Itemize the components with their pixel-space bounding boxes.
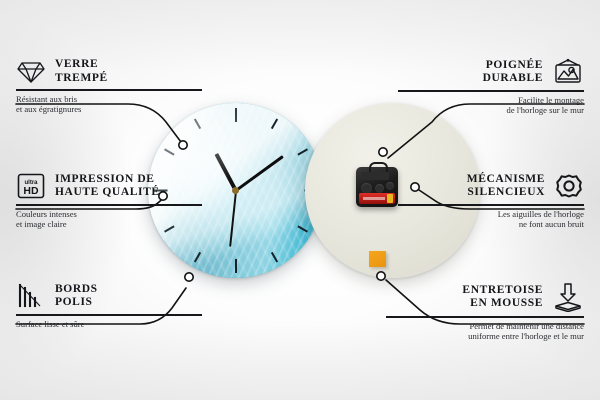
hour-hand: [214, 152, 237, 191]
feature-title-line2: POLIS: [55, 296, 98, 310]
feature-desc-line2: et image claire: [16, 219, 202, 229]
feature-header: BORDS POLIS: [16, 282, 202, 310]
feature-description: Résistant aux bris et aux égratignures: [16, 94, 202, 115]
mechanism-dial-right: [386, 182, 394, 190]
feature-description: Les aiguilles de l'horloge ne font aucun…: [398, 209, 584, 230]
ultra-hd-icon-bottom-text: HD: [23, 185, 39, 197]
infographic-canvas: VERRE TREMPÉ Résistant aux bris et aux é…: [0, 0, 600, 400]
feature-title-line1: ENTRETOISE: [462, 284, 543, 298]
feature-rule: [386, 316, 584, 318]
feature-title-line2: SILENCIEUX: [467, 186, 545, 200]
feature-rule: [16, 314, 202, 316]
feature-poignee-durable: POIGNÉE DURABLE Facilite le montage de l…: [398, 58, 584, 115]
feature-rule: [398, 204, 584, 206]
hands-center-cap: [232, 187, 239, 194]
polished-edge-icon: [16, 282, 46, 310]
feature-desc-line1: Les aiguilles de l'horloge: [398, 209, 584, 219]
feature-header: ENTRETOISE EN MOUSSE: [386, 282, 584, 312]
feature-title-line2: DURABLE: [483, 72, 543, 86]
feature-desc-line2: de l'horloge sur le mur: [398, 105, 584, 115]
feature-description: Permet de maintenir une distance uniform…: [386, 321, 584, 342]
feature-header: ultra HD IMPRESSION DE HAUTE QUALITÉ: [16, 172, 202, 200]
feature-title: BORDS POLIS: [55, 283, 98, 310]
feature-verre-trempe: VERRE TREMPÉ Résistant aux bris et aux é…: [16, 58, 202, 114]
feature-desc-line2: uniforme entre l'horloge et le mur: [386, 331, 584, 341]
feature-title-line2: EN MOUSSE: [462, 297, 543, 311]
feature-title-line2: HAUTE QUALITÉ: [55, 186, 160, 200]
feature-desc-line1: Permet de maintenir une distance: [386, 321, 584, 331]
foam-spacer: [369, 251, 386, 267]
feature-description: Couleurs intenses et image claire: [16, 209, 202, 230]
quartz-mechanism: [356, 167, 398, 207]
foam-spacer-icon: [552, 282, 584, 312]
feature-rule: [16, 89, 202, 91]
diamond-icon: [16, 59, 46, 85]
feature-rule: [398, 90, 584, 92]
feature-title-line1: MÉCANISME: [467, 173, 545, 187]
feature-title-line1: POIGNÉE: [483, 59, 543, 73]
feature-title: IMPRESSION DE HAUTE QUALITÉ: [55, 173, 160, 200]
battery-label: [363, 197, 385, 200]
feature-title: POIGNÉE DURABLE: [483, 59, 543, 86]
feature-desc-line1: Surface lisse et sûre: [16, 319, 202, 329]
feature-desc-line2: ne font aucun bruit: [398, 219, 584, 229]
feature-desc-line1: Couleurs intenses: [16, 209, 202, 219]
feature-title-line1: VERRE: [55, 58, 108, 72]
feature-description: Facilite le montage de l'horloge sur le …: [398, 95, 584, 116]
feature-desc-line2: et aux égratignures: [16, 104, 202, 114]
mechanism-dial-mid: [375, 184, 384, 193]
feature-title-line2: TREMPÉ: [55, 72, 108, 86]
feature-entretoise-en-mousse: ENTRETOISE EN MOUSSE Permet de maintenir…: [386, 282, 584, 341]
feature-desc-line1: Facilite le montage: [398, 95, 584, 105]
feature-title-line1: BORDS: [55, 283, 98, 297]
hanging-picture-icon: [552, 58, 584, 86]
feature-title-line1: IMPRESSION DE: [55, 173, 160, 187]
gear-icon: [554, 172, 584, 200]
feature-desc-line1: Résistant aux bris: [16, 94, 202, 104]
mechanism-hanger-tab: [369, 162, 388, 172]
second-hand: [229, 190, 237, 246]
feature-impression-haute-qualite: ultra HD IMPRESSION DE HAUTE QUALITÉ Cou…: [16, 172, 202, 229]
feature-header: POIGNÉE DURABLE: [398, 58, 584, 86]
feature-title: VERRE TREMPÉ: [55, 58, 108, 85]
feature-title: MÉCANISME SILENCIEUX: [467, 173, 545, 200]
feature-header: MÉCANISME SILENCIEUX: [398, 172, 584, 200]
battery-terminal: [387, 194, 393, 203]
minute-hand: [235, 155, 284, 192]
battery: [359, 193, 395, 204]
ultra-hd-icon: ultra HD: [16, 172, 46, 200]
feature-bords-polis: BORDS POLIS Surface lisse et sûre: [16, 282, 202, 329]
feature-rule: [16, 204, 202, 206]
feature-header: VERRE TREMPÉ: [16, 58, 202, 85]
mechanism-label: [361, 172, 389, 180]
feature-mecanisme-silencieux: MÉCANISME SILENCIEUX Les aiguilles de l'…: [398, 172, 584, 229]
feature-title: ENTRETOISE EN MOUSSE: [462, 284, 543, 311]
feature-description: Surface lisse et sûre: [16, 319, 202, 329]
